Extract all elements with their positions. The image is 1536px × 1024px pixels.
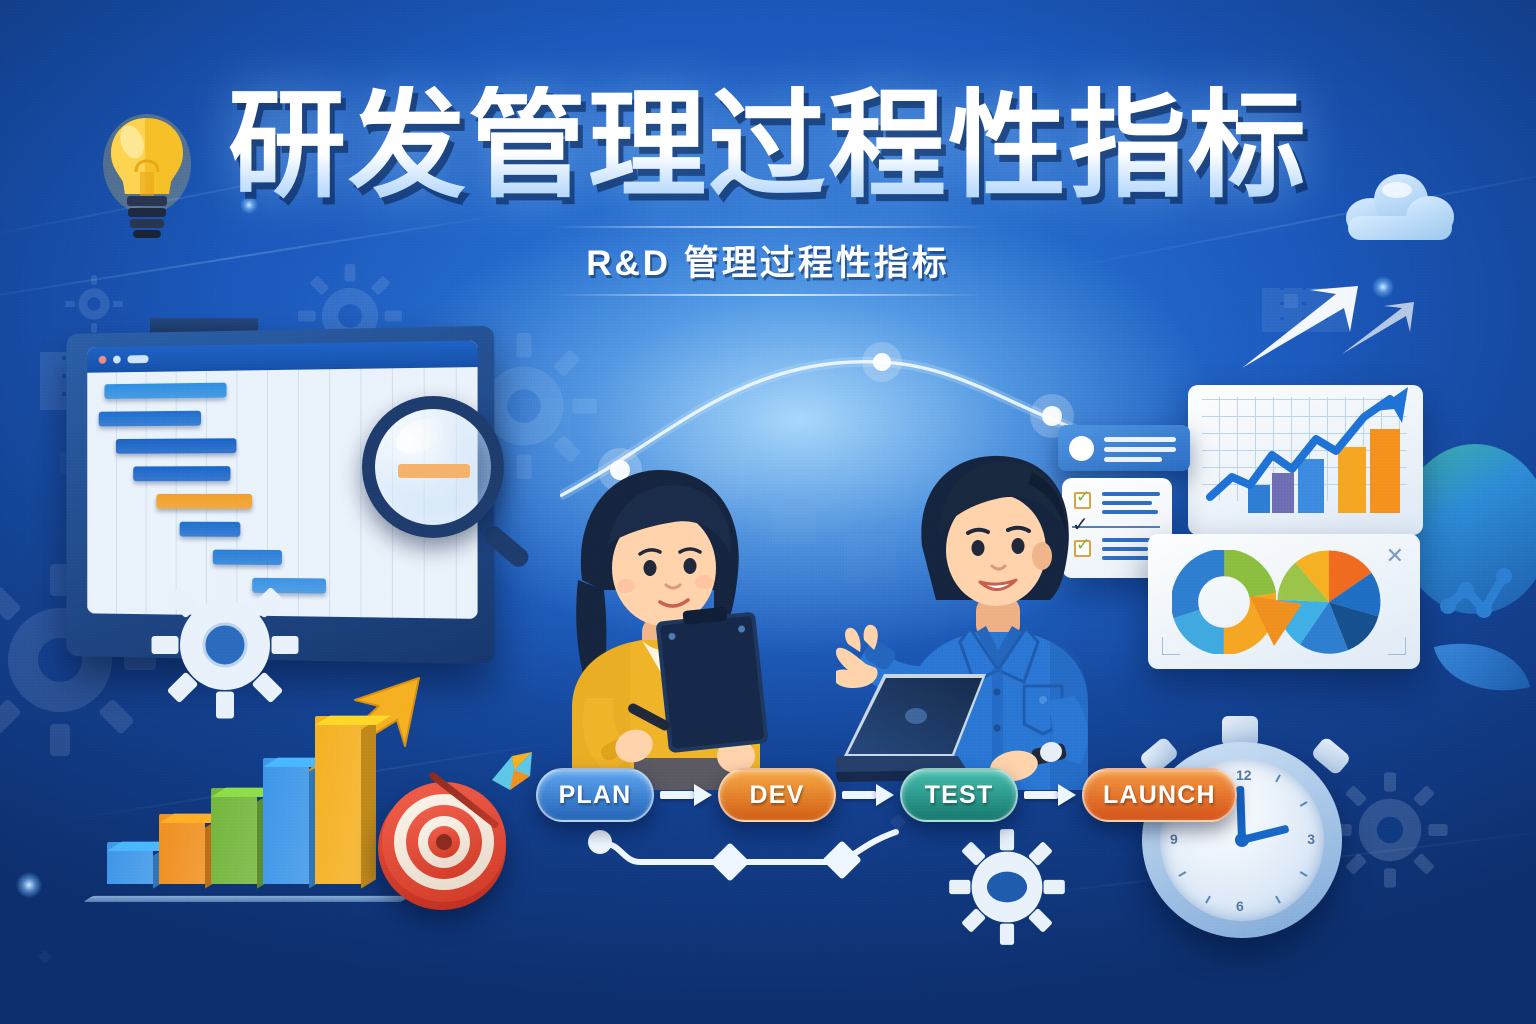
flow-node-diamond <box>710 842 750 882</box>
pipeline-stage-label: TEST <box>925 781 994 810</box>
minute-hand <box>1236 786 1246 840</box>
bar <box>159 814 205 884</box>
stopwatch-icon: 12 3 6 9 <box>1136 716 1354 934</box>
arrow-right-icon <box>660 784 712 806</box>
bar <box>263 758 309 884</box>
gantt-bar <box>116 438 236 454</box>
bar <box>211 788 257 884</box>
pipeline-stage-launch[interactable]: LAUNCH <box>1082 768 1237 822</box>
window-maximize-dot[interactable] <box>127 355 148 363</box>
bar <box>107 842 153 884</box>
bar <box>315 716 361 884</box>
pipeline-stages: PLAN DEV TEST LAUNCH <box>536 768 1237 822</box>
gantt-bar <box>99 411 201 427</box>
window-close-dot[interactable] <box>99 356 107 364</box>
pie-chart-card[interactable]: ✕ <box>1148 534 1420 669</box>
page-title: 研发管理过程性指标 <box>0 86 1536 206</box>
pipeline-stage-label: LAUNCH <box>1103 781 1216 810</box>
trend-chart <box>1188 385 1423 535</box>
workflow-connector <box>580 826 920 888</box>
magnifying-glass-icon <box>362 396 504 538</box>
arrow-right-icon <box>1024 784 1076 806</box>
banner-canvas: 研发管理过程性指标 R&D 管理过程性指标 <box>0 0 1536 1024</box>
analyst-woman <box>538 440 838 790</box>
headline-block: 研发管理过程性指标 R&D 管理过程性指标 <box>0 86 1536 296</box>
engineer-man <box>836 428 1136 790</box>
arrow-right-icon <box>842 784 894 806</box>
flow-node-circle <box>588 830 612 854</box>
gear-icon <box>150 570 300 720</box>
flow-node-diamond <box>822 840 862 880</box>
gantt-bar <box>133 466 230 481</box>
pie-slice-highlight <box>1240 590 1306 650</box>
pipeline-stage-plan[interactable]: PLAN <box>536 768 654 822</box>
window-minimize-dot[interactable] <box>113 356 121 364</box>
pipeline-stage-test[interactable]: TEST <box>900 768 1018 822</box>
gantt-bar <box>156 494 252 509</box>
gear-icon <box>948 828 1066 946</box>
arrow-fletching-icon <box>490 750 536 790</box>
pipeline-stage-label: DEV <box>749 781 804 810</box>
pipeline-stage-dev[interactable]: DEV <box>718 768 836 822</box>
gantt-bar <box>213 550 282 565</box>
chart-baseline <box>83 896 411 902</box>
gantt-bar <box>104 383 226 399</box>
page-subtitle: R&D 管理过程性指标 <box>586 235 950 286</box>
subtitle-wrap: R&D 管理过程性指标 <box>552 226 984 296</box>
frame-corner <box>1388 637 1406 655</box>
arrow-up-right-icon <box>1340 300 1416 356</box>
gantt-bar <box>180 522 241 537</box>
network-node-icon <box>1440 566 1524 628</box>
lightbulb-icon <box>100 112 194 240</box>
growth-bar-chart <box>95 690 395 920</box>
divider-top <box>552 226 984 228</box>
divider-bottom <box>552 294 984 296</box>
target-bullseye-icon <box>378 778 510 910</box>
trend-chart-card[interactable] <box>1188 385 1423 535</box>
pipeline-stage-label: PLAN <box>559 781 632 810</box>
